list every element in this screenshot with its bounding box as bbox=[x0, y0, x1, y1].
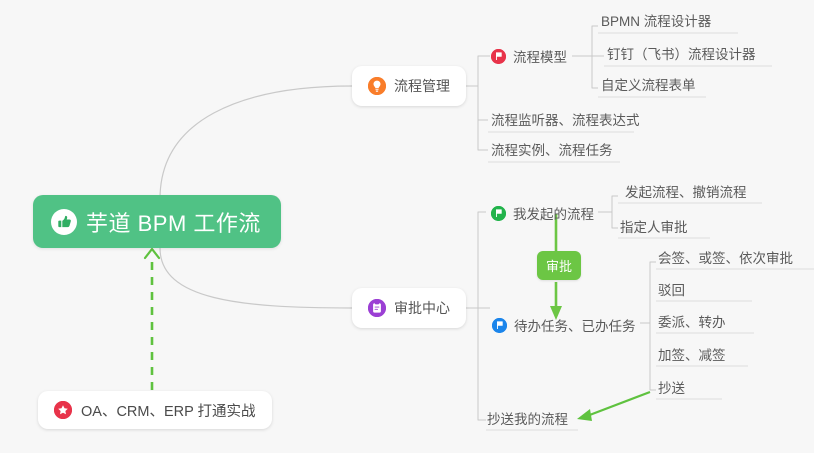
leaf-assignee-approval[interactable]: 指定人审批 bbox=[620, 218, 688, 241]
thumbs-up-icon bbox=[51, 209, 77, 235]
clipboard-icon bbox=[368, 299, 386, 317]
leaf-listener-expression[interactable]: 流程监听器、流程表达式 bbox=[491, 111, 640, 134]
mindmap-canvas: 芋道 BPM 工作流 流程管理 流程模型 BPMN 流程设计器 钉钉（飞书）流程… bbox=[0, 0, 814, 453]
leaf-dingding-designer[interactable]: 钉钉（飞书）流程设计器 bbox=[607, 45, 756, 68]
node-wo-faqi[interactable]: 我发起的流程 bbox=[491, 203, 594, 223]
branch-label: 流程管理 bbox=[394, 76, 450, 96]
branch-label: 审批中心 bbox=[394, 298, 450, 318]
node-label: 我发起的流程 bbox=[513, 203, 594, 223]
node-daiban-renwu[interactable]: 待办任务、已办任务 bbox=[492, 315, 636, 335]
leaf-bpmn-designer[interactable]: BPMN 流程设计器 bbox=[601, 12, 711, 35]
leaf-delegate-transfer[interactable]: 委派、转办 bbox=[658, 313, 726, 336]
leaf-cc-to-me[interactable]: 抄送我的流程 bbox=[487, 410, 568, 433]
node-label: 待办任务、已办任务 bbox=[514, 315, 636, 335]
flag-icon bbox=[491, 49, 506, 64]
lightbulb-icon bbox=[368, 77, 386, 95]
leaf-add-remove-sign[interactable]: 加签、减签 bbox=[658, 346, 726, 369]
star-icon bbox=[54, 401, 72, 419]
tag-node-label: OA、CRM、ERP 打通实战 bbox=[81, 400, 256, 421]
node-liucheng-moxing[interactable]: 流程模型 bbox=[491, 46, 567, 66]
leaf-instance-task[interactable]: 流程实例、流程任务 bbox=[491, 141, 613, 164]
flag-icon bbox=[492, 318, 507, 333]
branch-node-shenpi-zhongxin[interactable]: 审批中心 bbox=[352, 288, 466, 328]
leaf-custom-form[interactable]: 自定义流程表单 bbox=[601, 76, 696, 99]
tag-node-oa-crm-erp[interactable]: OA、CRM、ERP 打通实战 bbox=[38, 391, 272, 429]
leaf-countersign[interactable]: 会签、或签、依次审批 bbox=[658, 249, 793, 272]
root-node[interactable]: 芋道 BPM 工作流 bbox=[33, 195, 281, 248]
leaf-start-cancel-process[interactable]: 发起流程、撤销流程 bbox=[625, 183, 747, 206]
annotation-shenpi: 审批 bbox=[537, 251, 581, 280]
leaf-cc[interactable]: 抄送 bbox=[658, 379, 685, 402]
node-label: 流程模型 bbox=[513, 46, 567, 66]
leaf-reject[interactable]: 驳回 bbox=[658, 281, 685, 304]
branch-node-liucheng-guanli[interactable]: 流程管理 bbox=[352, 66, 466, 106]
flag-icon bbox=[491, 206, 506, 221]
root-label: 芋道 BPM 工作流 bbox=[86, 206, 261, 238]
